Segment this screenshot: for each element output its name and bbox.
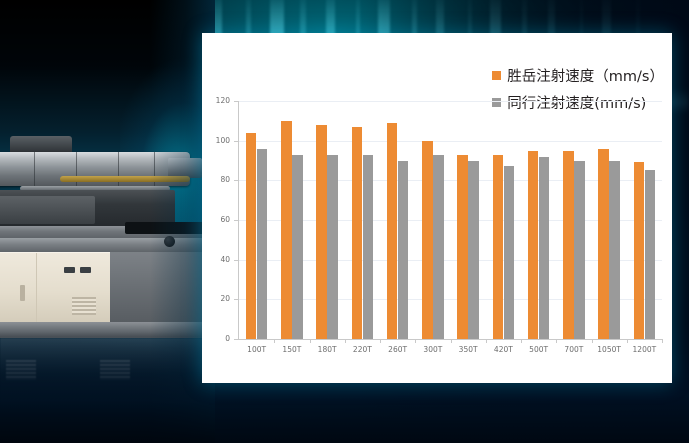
x-axis-tick [592,339,593,343]
bar-primary[interactable] [316,125,327,339]
bar-secondary[interactable] [433,155,444,339]
bar-secondary[interactable] [398,161,409,340]
y-axis-tick-label: 0 [202,334,230,343]
bar-primary[interactable] [387,123,398,339]
y-axis-tick [234,260,238,261]
x-axis-tick [415,339,416,343]
x-axis-tick-label: 1200T [627,345,662,354]
x-axis-tick-label: 180T [310,345,345,354]
bar-primary[interactable] [352,127,363,339]
y-axis-tick-label: 60 [202,215,230,224]
bar-group [528,101,550,339]
x-axis-tick [274,339,275,343]
bar-primary[interactable] [493,155,504,339]
x-axis-tick [662,339,663,343]
x-axis-tick [486,339,487,343]
bar-group [422,101,444,339]
x-axis-tick-label: 100T [239,345,274,354]
bar-primary[interactable] [422,141,433,339]
x-axis-tick-label: 220T [345,345,380,354]
y-axis-tick-label: 20 [202,294,230,303]
bar-group [634,101,656,339]
x-axis-tick-label: 500T [521,345,556,354]
x-axis-tick-label: 1050T [592,345,627,354]
bar-group [457,101,479,339]
legend-swatch-icon-0 [492,71,501,80]
photo-clamp-base-upper [0,196,95,224]
bar-secondary[interactable] [327,155,338,339]
machine-photo [0,0,215,443]
x-axis-tick [380,339,381,343]
bar-primary[interactable] [598,149,609,339]
bar-group [316,101,338,339]
bar-group [387,101,409,339]
y-axis-tick [234,220,238,221]
bar-secondary[interactable] [504,166,515,339]
slide-canvas: 胜岳注射速度（mm/s） 同行注射速度(mm/s) 02040608010012… [0,0,689,443]
bar-secondary[interactable] [539,157,550,339]
y-axis-tick-label: 120 [202,96,230,105]
y-axis-tick [234,180,238,181]
x-axis-tick-label: 150T [274,345,309,354]
bar-primary[interactable] [246,133,257,339]
x-axis-tick [521,339,522,343]
x-axis-tick [627,339,628,343]
x-axis-tick-label: 700T [556,345,591,354]
bar-primary[interactable] [281,121,292,339]
y-axis-tick [234,141,238,142]
photo-control-cabinet [0,252,112,325]
bar-secondary[interactable] [292,155,303,339]
legend-item-0[interactable]: 胜岳注射速度（mm/s） [492,65,664,86]
bar-group [352,101,374,339]
bar-group [281,101,303,339]
bar-primary[interactable] [457,155,468,339]
x-axis-tick [451,339,452,343]
x-axis-tick-label: 260T [380,345,415,354]
y-axis-tick [234,339,238,340]
chart-panel: 胜岳注射速度（mm/s） 同行注射速度(mm/s) 02040608010012… [202,33,672,383]
bar-secondary[interactable] [363,155,374,339]
bar-primary[interactable] [528,151,539,339]
bar-series-layer [239,101,662,339]
y-axis-tick [234,101,238,102]
x-axis-tick-label: 300T [415,345,450,354]
bar-chart: 胜岳注射速度（mm/s） 同行注射速度(mm/s) 02040608010012… [202,33,672,383]
x-axis-tick-label: 420T [486,345,521,354]
bar-secondary[interactable] [645,170,656,339]
bar-group [493,101,515,339]
bar-secondary[interactable] [468,161,479,340]
x-axis-tick-label: 350T [451,345,486,354]
y-axis-tick [234,299,238,300]
bar-group [563,101,585,339]
bar-group [246,101,268,339]
legend-label-0: 胜岳注射速度（mm/s） [507,65,664,86]
bar-secondary[interactable] [609,161,620,340]
bar-primary[interactable] [634,162,645,339]
bar-secondary[interactable] [574,161,585,340]
x-axis-tick [556,339,557,343]
bar-secondary[interactable] [257,149,268,339]
photo-bottom-blend [0,323,215,443]
x-axis-tick [345,339,346,343]
y-axis-tick-label: 100 [202,136,230,145]
y-axis-tick-label: 40 [202,255,230,264]
y-axis-tick-label: 80 [202,175,230,184]
bar-group [598,101,620,339]
x-axis-tick [310,339,311,343]
bar-primary[interactable] [563,151,574,339]
